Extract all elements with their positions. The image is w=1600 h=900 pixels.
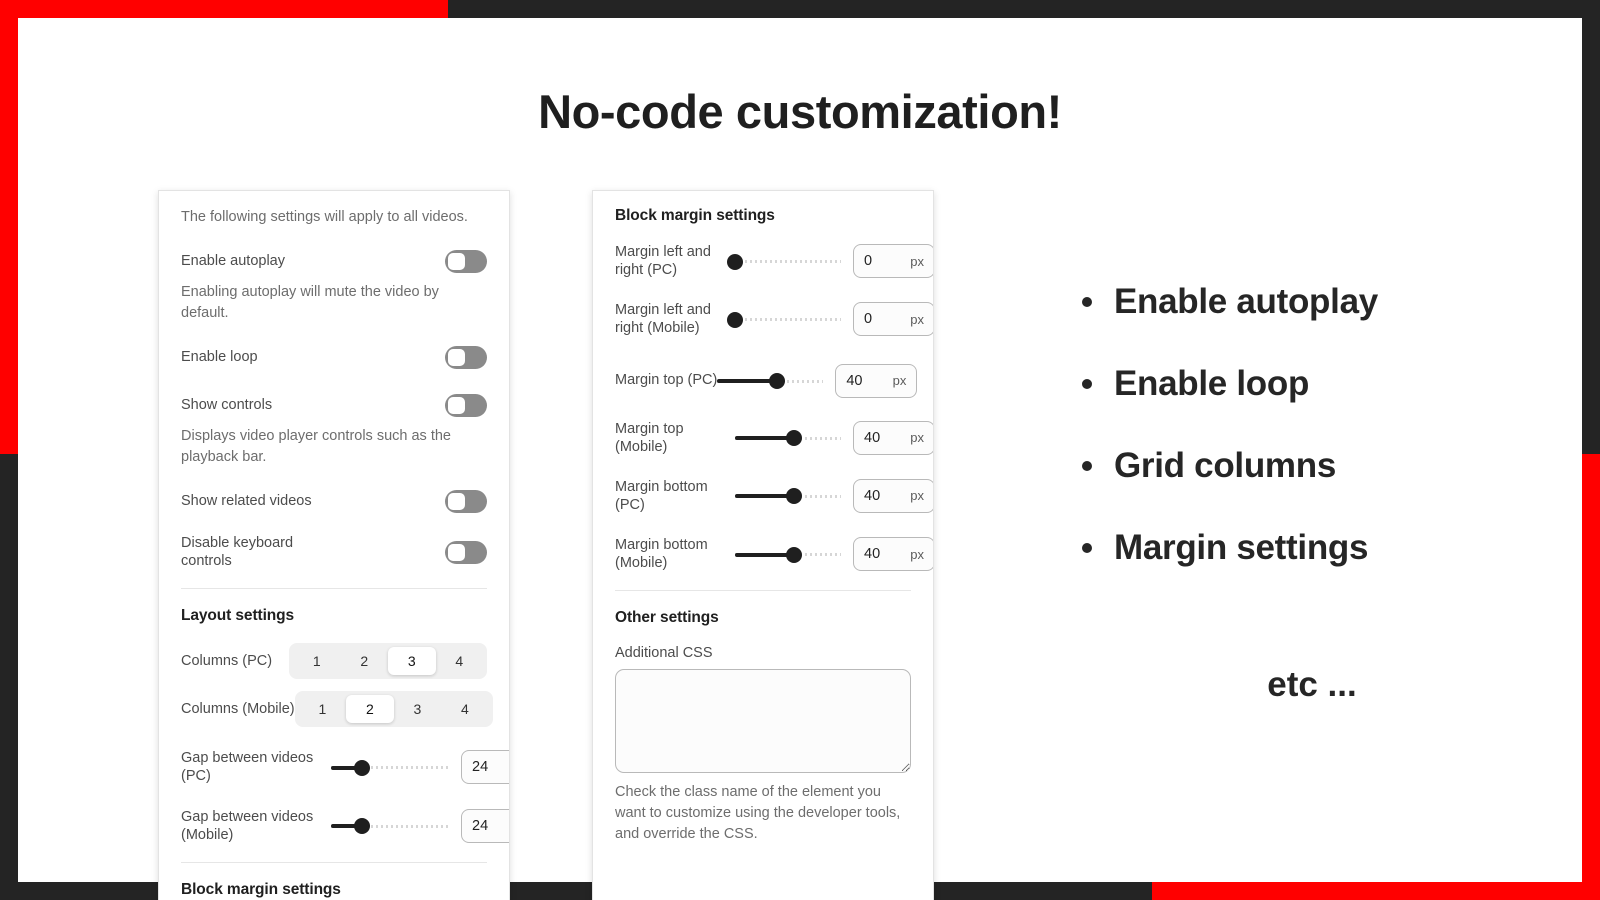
slider-margin-lr-pc[interactable] bbox=[735, 250, 841, 272]
additional-css-label: Additional CSS bbox=[615, 645, 911, 661]
slider-track bbox=[735, 260, 841, 263]
setting-row-show-controls[interactable]: Show controls bbox=[181, 390, 487, 420]
section-title-block-margin: Block margin settings bbox=[181, 881, 487, 899]
toggle-show-controls[interactable] bbox=[445, 394, 487, 417]
frame-band-right-dark bbox=[1582, 0, 1600, 454]
setting-label: Margin bottom (Mobile) bbox=[615, 536, 735, 572]
setting-row-margin-bottom-mobile[interactable]: Margin bottom (Mobile) 40 px bbox=[615, 536, 911, 572]
slider-thumb[interactable] bbox=[786, 488, 802, 504]
number-field-unit: px bbox=[910, 312, 924, 327]
segment-option[interactable]: 2 bbox=[341, 647, 389, 675]
setting-label: Show controls bbox=[181, 396, 272, 414]
number-field-value: 0 bbox=[864, 311, 872, 327]
setting-label: Gap between videos (Mobile) bbox=[181, 808, 331, 844]
number-field-unit: px bbox=[910, 254, 924, 269]
toggle-knob-icon bbox=[448, 397, 465, 414]
list-item: Enable loop bbox=[1082, 364, 1542, 404]
feature-list: Enable autoplay Enable loop Grid columns… bbox=[1082, 282, 1542, 610]
list-item: Enable autoplay bbox=[1082, 282, 1542, 322]
toggle-knob-icon bbox=[448, 493, 465, 510]
toggle-knob-icon bbox=[448, 544, 465, 561]
number-field-value: 40 bbox=[864, 488, 880, 504]
frame-band-bottom-red bbox=[1152, 882, 1600, 900]
setting-label: Margin bottom (PC) bbox=[615, 478, 735, 514]
segment-option[interactable]: 4 bbox=[441, 695, 489, 723]
slider-thumb[interactable] bbox=[354, 818, 370, 834]
setting-label: Margin top (PC) bbox=[615, 371, 717, 389]
number-field-value: 0 bbox=[864, 253, 872, 269]
segment-option-selected[interactable]: 2 bbox=[346, 695, 394, 723]
setting-label: Margin left and right (Mobile) bbox=[615, 301, 735, 337]
toggle-disable-keyboard-controls[interactable] bbox=[445, 541, 487, 564]
slider-thumb[interactable] bbox=[727, 254, 743, 270]
slider-thumb[interactable] bbox=[769, 373, 785, 389]
setting-label: Gap between videos (PC) bbox=[181, 749, 331, 785]
segment-option-selected[interactable]: 3 bbox=[388, 647, 436, 675]
intro-note: The following settings will apply to all… bbox=[181, 207, 487, 228]
setting-label: Margin top (Mobile) bbox=[615, 420, 735, 456]
list-item-label: Margin settings bbox=[1114, 528, 1368, 568]
slider-thumb[interactable] bbox=[786, 547, 802, 563]
additional-css-textarea[interactable] bbox=[615, 669, 911, 773]
frame-band-top-dark bbox=[448, 0, 1600, 18]
number-field-gap-mobile[interactable]: 24 px bbox=[461, 809, 510, 843]
number-field-unit: px bbox=[910, 547, 924, 562]
list-item-label: Grid columns bbox=[1114, 446, 1336, 486]
number-field-unit: px bbox=[910, 430, 924, 445]
slider-margin-top-pc[interactable] bbox=[717, 370, 823, 392]
frame-band-right-red bbox=[1582, 454, 1600, 900]
setting-row-columns-pc[interactable]: Columns (PC) 1 2 3 4 bbox=[181, 643, 487, 679]
setting-row-gap-pc[interactable]: Gap between videos (PC) 24 px bbox=[181, 749, 487, 785]
bullet-dot-icon bbox=[1082, 461, 1092, 471]
list-item-label: Enable autoplay bbox=[1114, 282, 1378, 322]
etc-label: etc ... bbox=[1082, 665, 1542, 705]
setting-row-margin-bottom-pc[interactable]: Margin bottom (PC) 40 px bbox=[615, 478, 911, 514]
slider-thumb[interactable] bbox=[786, 430, 802, 446]
setting-row-enable-loop[interactable]: Enable loop bbox=[181, 342, 487, 372]
slide-canvas: No-code customization! The following set… bbox=[0, 0, 1600, 900]
number-field-value: 40 bbox=[864, 546, 880, 562]
frame-band-top-red bbox=[0, 0, 448, 18]
segment-option[interactable]: 1 bbox=[299, 695, 347, 723]
list-item: Grid columns bbox=[1082, 446, 1542, 486]
toggle-enable-loop[interactable] bbox=[445, 346, 487, 369]
toggle-enable-autoplay[interactable] bbox=[445, 250, 487, 273]
section-title-block-margin: Block margin settings bbox=[615, 207, 911, 225]
slider-thumb[interactable] bbox=[727, 312, 743, 328]
setting-label: Columns (Mobile) bbox=[181, 700, 295, 718]
list-item-label: Enable loop bbox=[1114, 364, 1309, 404]
setting-label: Enable autoplay bbox=[181, 252, 285, 270]
number-field-margin-bottom-mobile[interactable]: 40 px bbox=[853, 537, 934, 571]
page-title: No-code customization! bbox=[0, 84, 1600, 139]
setting-label: Enable loop bbox=[181, 348, 258, 366]
toggle-show-related-videos[interactable] bbox=[445, 490, 487, 513]
frame-band-left-dark bbox=[0, 454, 18, 900]
bullet-dot-icon bbox=[1082, 297, 1092, 307]
setting-row-enable-autoplay[interactable]: Enable autoplay bbox=[181, 246, 487, 276]
toggle-knob-icon bbox=[448, 253, 465, 270]
number-field-unit: px bbox=[910, 488, 924, 503]
setting-row-gap-mobile[interactable]: Gap between videos (Mobile) 24 px bbox=[181, 808, 487, 844]
number-field-unit: px bbox=[893, 373, 907, 388]
section-title-other: Other settings bbox=[615, 609, 911, 627]
setting-label: Margin left and right (PC) bbox=[615, 243, 735, 279]
frame-band-left-red bbox=[0, 0, 18, 454]
number-field-value: 40 bbox=[846, 373, 862, 389]
toggle-knob-icon bbox=[448, 349, 465, 366]
slider-gap-mobile[interactable] bbox=[331, 815, 449, 837]
setting-row-margin-top-pc[interactable]: Margin top (PC) 40 px bbox=[615, 364, 911, 398]
number-field-value: 24 bbox=[472, 818, 488, 834]
setting-label: Show related videos bbox=[181, 492, 312, 510]
slider-thumb[interactable] bbox=[354, 760, 370, 776]
setting-label: Columns (PC) bbox=[181, 652, 272, 670]
slider-margin-bottom-mobile[interactable] bbox=[735, 543, 841, 565]
section-title-layout: Layout settings bbox=[181, 607, 487, 625]
slider-gap-pc[interactable] bbox=[331, 756, 449, 778]
setting-help-note: Enabling autoplay will mute the video by… bbox=[181, 282, 487, 324]
setting-help-note: Displays video player controls such as t… bbox=[181, 426, 487, 468]
section-divider bbox=[615, 590, 911, 591]
setting-label: Disable keyboard controls bbox=[181, 534, 331, 570]
additional-css-help-note: Check the class name of the element you … bbox=[615, 782, 911, 845]
segmented-control-columns-mobile[interactable]: 1 2 3 4 bbox=[295, 691, 493, 727]
number-field-margin-lr-mobile[interactable]: 0 px bbox=[853, 302, 934, 336]
segmented-control-columns-pc[interactable]: 1 2 3 4 bbox=[289, 643, 487, 679]
segment-option[interactable]: 1 bbox=[293, 647, 341, 675]
setting-row-margin-lr-mobile[interactable]: Margin left and right (Mobile) 0 px bbox=[615, 301, 911, 337]
section-divider bbox=[181, 588, 487, 589]
setting-row-columns-mobile[interactable]: Columns (Mobile) 1 2 3 4 bbox=[181, 691, 487, 727]
slider-track bbox=[735, 318, 841, 321]
block-margin-settings-panel: Block margin settings Margin left and ri… bbox=[592, 190, 934, 900]
slider-margin-lr-mobile[interactable] bbox=[735, 308, 841, 330]
number-field-gap-pc[interactable]: 24 px bbox=[461, 750, 510, 784]
slider-margin-bottom-pc[interactable] bbox=[735, 485, 841, 507]
segment-option[interactable]: 3 bbox=[394, 695, 442, 723]
setting-row-margin-top-mobile[interactable]: Margin top (Mobile) 40 px bbox=[615, 420, 911, 456]
number-field-value: 24 bbox=[472, 759, 488, 775]
number-field-margin-lr-pc[interactable]: 0 px bbox=[853, 244, 934, 278]
video-settings-panel: The following settings will apply to all… bbox=[158, 190, 510, 900]
bullet-dot-icon bbox=[1082, 543, 1092, 553]
setting-row-disable-keyboard-controls[interactable]: Disable keyboard controls bbox=[181, 534, 487, 570]
setting-row-show-related-videos[interactable]: Show related videos bbox=[181, 486, 487, 516]
section-divider bbox=[181, 862, 487, 863]
number-field-margin-top-mobile[interactable]: 40 px bbox=[853, 421, 934, 455]
bullet-dot-icon bbox=[1082, 379, 1092, 389]
setting-row-margin-lr-pc[interactable]: Margin left and right (PC) 0 px bbox=[615, 243, 911, 279]
number-field-margin-top-pc[interactable]: 40 px bbox=[835, 364, 917, 398]
list-item: Margin settings bbox=[1082, 528, 1542, 568]
segment-option[interactable]: 4 bbox=[436, 647, 484, 675]
number-field-margin-bottom-pc[interactable]: 40 px bbox=[853, 479, 934, 513]
slider-margin-top-mobile[interactable] bbox=[735, 427, 841, 449]
number-field-value: 40 bbox=[864, 430, 880, 446]
